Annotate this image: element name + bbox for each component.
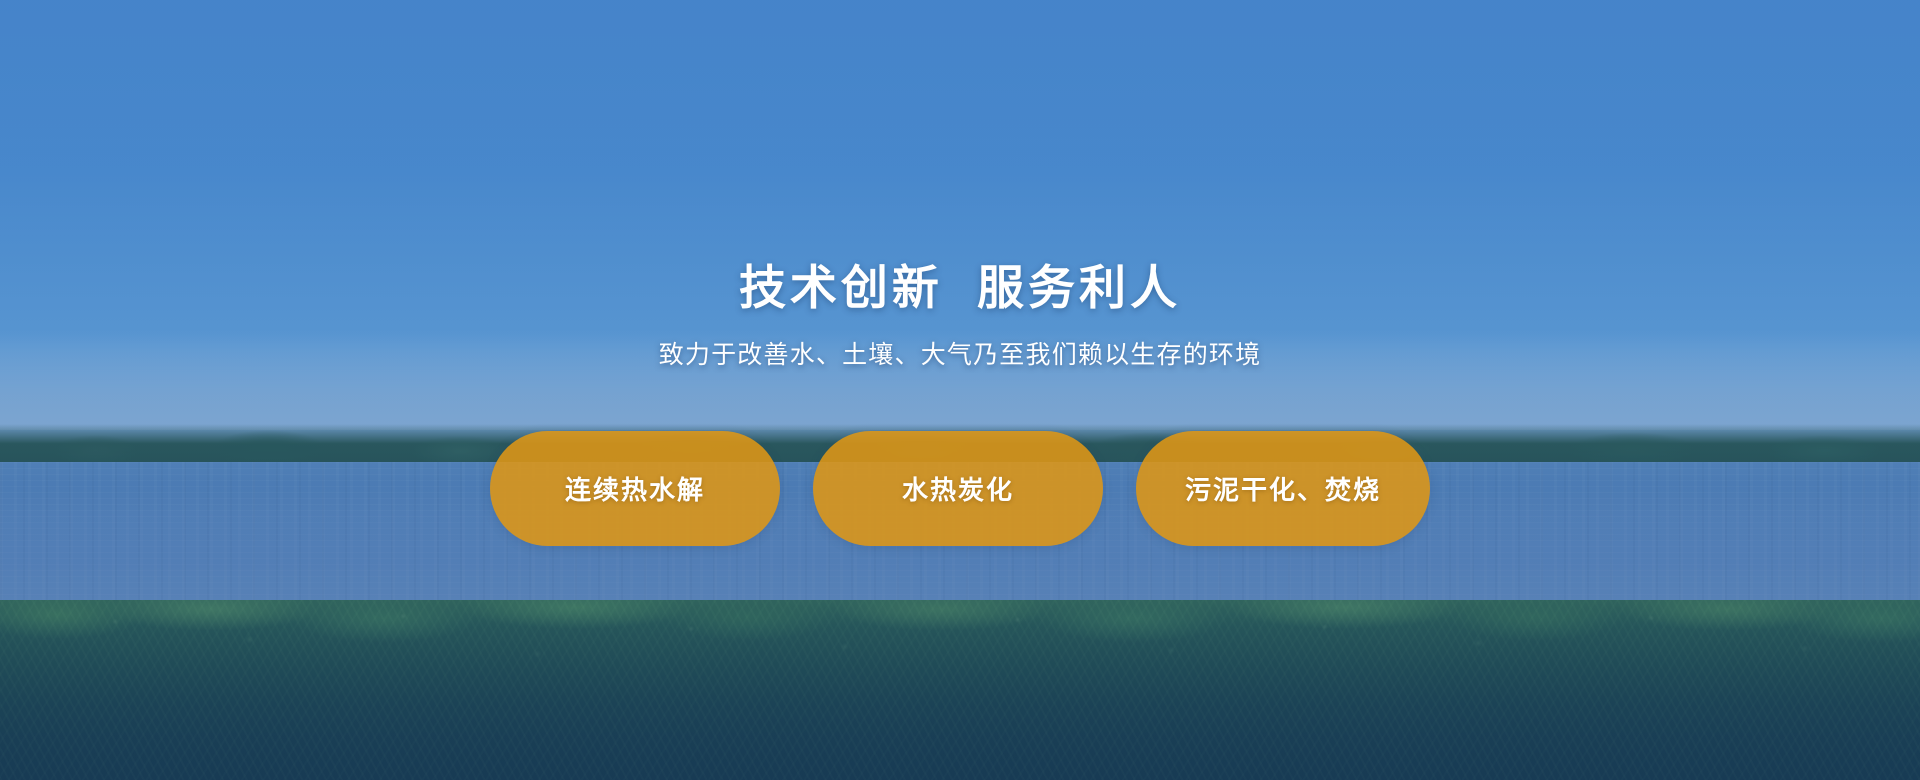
service-button-label: 连续热水解: [565, 470, 705, 507]
hero-banner: 技术创新 服务利人 致力于改善水、土壤、大气乃至我们赖以生存的环境 连续热水解 …: [0, 0, 1920, 780]
service-button-hydrothermal-carbonization[interactable]: 水热炭化: [813, 431, 1103, 546]
service-button-continuous-thermal-hydrolysis[interactable]: 连续热水解: [490, 431, 780, 546]
hero-subheadline: 致力于改善水、土壤、大气乃至我们赖以生存的环境: [659, 335, 1262, 371]
hero-headline: 技术创新 服务利人: [739, 262, 1181, 315]
service-button-label: 污泥干化、焚烧: [1185, 470, 1381, 507]
service-button-label: 水热炭化: [902, 470, 1014, 507]
service-button-row: 连续热水解 水热炭化 污泥干化、焚烧: [490, 431, 1430, 546]
service-button-sludge-drying-incineration[interactable]: 污泥干化、焚烧: [1136, 431, 1430, 546]
hero-content: 技术创新 服务利人 致力于改善水、土壤、大气乃至我们赖以生存的环境 连续热水解 …: [0, 0, 1920, 780]
